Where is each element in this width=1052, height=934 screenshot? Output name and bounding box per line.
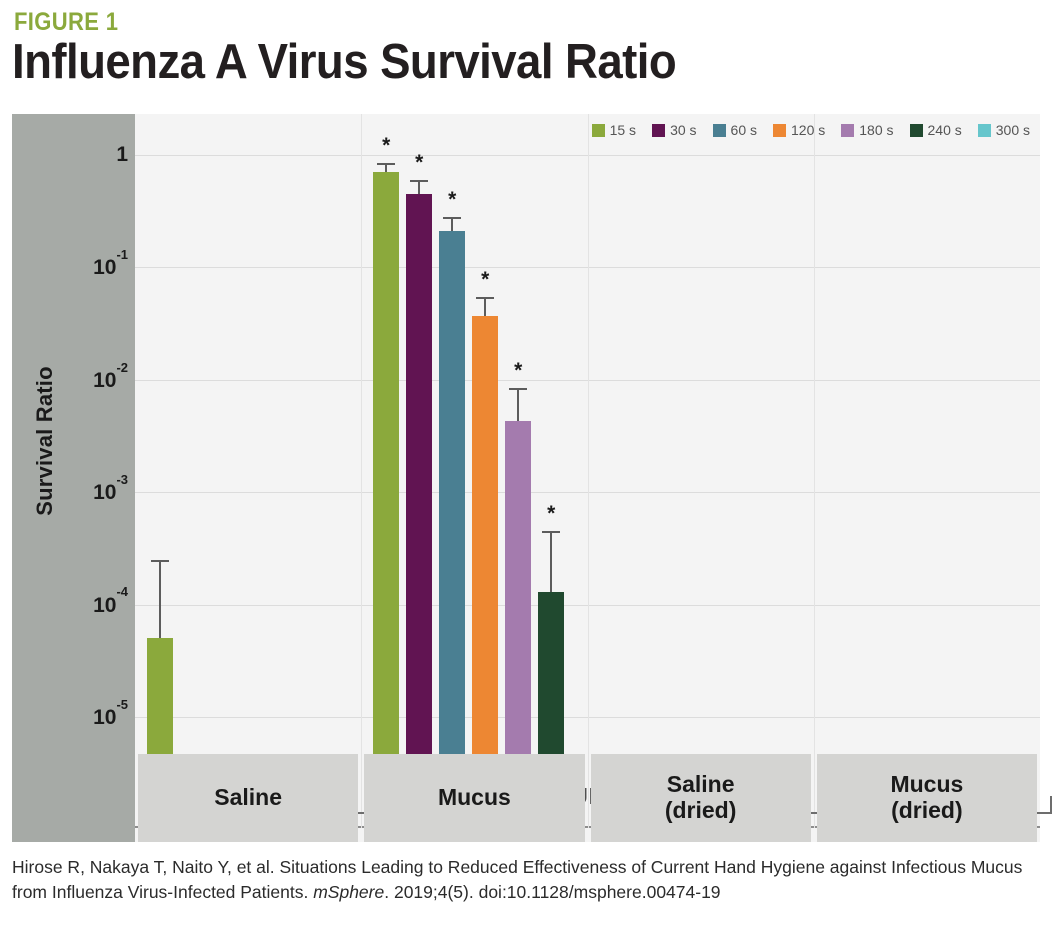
y-tick-label-1: 10-1: [93, 254, 128, 280]
group-separator-0: [361, 114, 362, 828]
legend-label-300s: 300 s: [996, 122, 1030, 138]
x-category-label: Saline: [214, 785, 282, 811]
y-axis-title: Survival Ratio: [32, 316, 58, 566]
legend-label-240s: 240 s: [928, 122, 962, 138]
y-tick-label-4: 10-4: [93, 592, 128, 618]
y-tick-label-2: 10-2: [93, 367, 128, 393]
bar-mucus-120s: [472, 316, 498, 828]
legend-swatch-icon-120s: [773, 124, 786, 137]
legend-item-60s[interactable]: 60 s: [713, 122, 757, 138]
x-category-label: Mucus: [438, 785, 511, 811]
error-bar-15s: [159, 560, 161, 639]
legend-swatch-icon-15s: [592, 124, 605, 137]
chart-legend: 15 s30 s60 s120 s180 s240 s300 s: [592, 122, 1030, 138]
x-category-cell-mucus: Mucus: [364, 754, 584, 842]
error-bar-180s: [517, 388, 519, 421]
caption-journal-name: mSphere: [313, 882, 384, 902]
error-bar-cap-15s: [377, 163, 395, 165]
figure-caption: Hirose R, Nakaya T, Naito Y, et al. Situ…: [12, 855, 1044, 906]
error-bar-30s: [418, 180, 420, 194]
significance-marker-180s: *: [514, 360, 522, 381]
legend-item-30s[interactable]: 30 s: [652, 122, 696, 138]
significance-marker-30s: *: [415, 152, 423, 173]
error-bar-cap-240s: [542, 531, 560, 533]
y-tick-label-3: 10-3: [93, 479, 128, 505]
group-separator-1: [588, 114, 589, 828]
error-bar-120s: [484, 297, 486, 316]
error-bar-60s: [451, 217, 453, 231]
significance-marker-15s: *: [382, 135, 390, 156]
error-bar-cap-120s: [476, 297, 494, 299]
legend-item-180s[interactable]: 180 s: [841, 122, 893, 138]
x-category-label: Saline(dried): [665, 772, 737, 824]
error-bar-cap-15s: [151, 560, 169, 562]
legend-label-180s: 180 s: [859, 122, 893, 138]
x-category-cell-saline-dried: Saline(dried): [591, 754, 811, 842]
legend-swatch-icon-300s: [978, 124, 991, 137]
plot-area: ******UDUDUDUD: [135, 114, 1040, 842]
y-axis-panel: Survival Ratio 110-110-210-310-410-5: [12, 114, 135, 842]
bar-mucus-15s: [373, 172, 399, 828]
x-category-cell-mucus-dried: Mucus(dried): [817, 754, 1037, 842]
plot-panel: ******UDUDUDUD 15 s30 s60 s120 s180 s240…: [135, 114, 1040, 842]
error-bar-cap-60s: [443, 217, 461, 219]
y-tick-label-5: 10-5: [93, 704, 128, 730]
figure-title: Influenza A Virus Survival Ratio: [12, 34, 676, 90]
legend-item-240s[interactable]: 240 s: [910, 122, 962, 138]
legend-swatch-icon-180s: [841, 124, 854, 137]
error-bar-cap-30s: [410, 180, 428, 182]
significance-marker-120s: *: [481, 269, 489, 290]
legend-label-60s: 60 s: [731, 122, 757, 138]
figure-page: FIGURE 1 Influenza A Virus Survival Rati…: [0, 0, 1052, 934]
legend-item-120s[interactable]: 120 s: [773, 122, 825, 138]
legend-item-15s[interactable]: 15 s: [592, 122, 636, 138]
legend-swatch-icon-240s: [910, 124, 923, 137]
legend-swatch-icon-30s: [652, 124, 665, 137]
caption-text-part2: . 2019;4(5). doi:10.1128/msphere.00474-1…: [384, 882, 720, 902]
x-category-cell-saline: Saline: [138, 754, 358, 842]
chart-container: Survival Ratio 110-110-210-310-410-5 ***…: [12, 114, 1040, 842]
bar-mucus-60s: [439, 231, 465, 828]
error-bar-cap-180s: [509, 388, 527, 390]
figure-number-label: FIGURE 1: [14, 8, 118, 37]
legend-item-300s[interactable]: 300 s: [978, 122, 1030, 138]
significance-marker-60s: *: [448, 189, 456, 210]
x-axis-category-band: SalineMucusSaline(dried)Mucus(dried): [135, 754, 1040, 842]
group-separator-2: [814, 114, 815, 828]
significance-marker-240s: *: [547, 503, 555, 524]
y-tick-label-0: 1: [116, 143, 128, 167]
bar-mucus-30s: [406, 194, 432, 828]
legend-label-120s: 120 s: [791, 122, 825, 138]
legend-label-15s: 15 s: [610, 122, 636, 138]
legend-label-30s: 30 s: [670, 122, 696, 138]
error-bar-240s: [550, 531, 552, 592]
x-category-label: Mucus(dried): [890, 772, 963, 824]
legend-swatch-icon-60s: [713, 124, 726, 137]
